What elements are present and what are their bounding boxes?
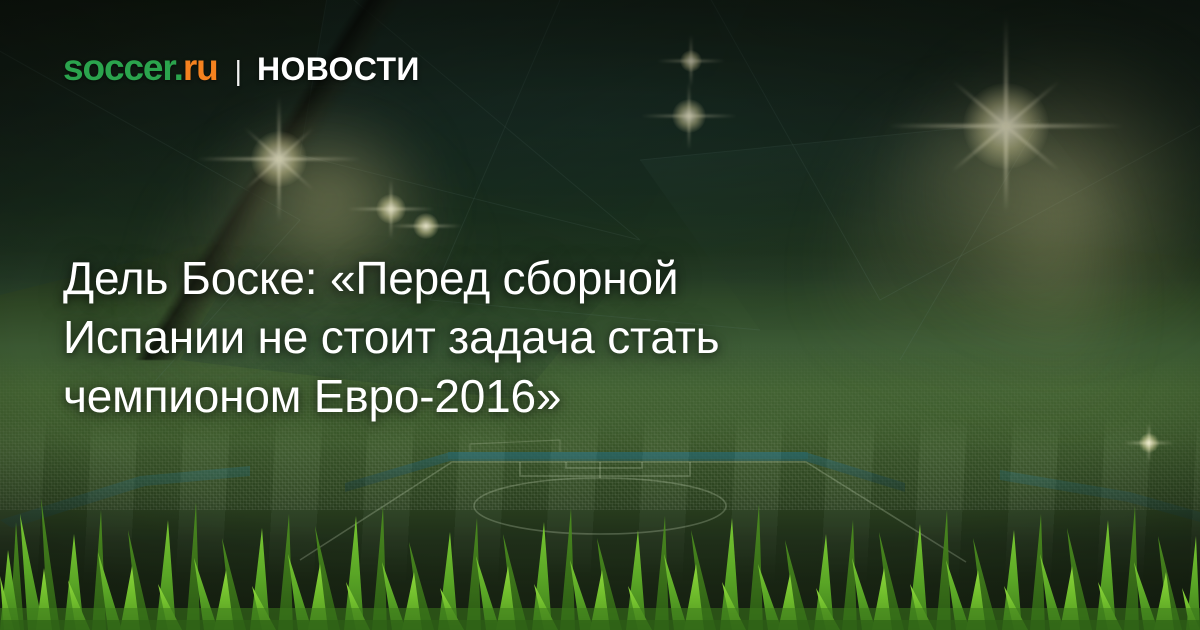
soccer-ru-logo[interactable]: soccer.ru [63, 49, 218, 86]
headline: Дель Боске: «Перед сборной Испании не ст… [63, 249, 968, 426]
brand-bar: soccer.ru | НОВОСТИ [63, 49, 420, 86]
logo-word-soccer: soccer [63, 47, 174, 88]
headline-line-1: Дель Боске: «Перед сборной [63, 249, 968, 308]
headline-line-3: чемпионом Евро-2016» [63, 367, 968, 426]
social-share-card: soccer.ru | НОВОСТИ Дель Боске: «Перед с… [0, 0, 1200, 630]
logo-word-ru: ru [183, 47, 218, 88]
headline-line-2: Испании не стоит задача стать [63, 308, 968, 367]
logo-dot: . [174, 47, 183, 88]
brand-divider: | [235, 57, 242, 85]
section-label-news: НОВОСТИ [257, 53, 420, 85]
